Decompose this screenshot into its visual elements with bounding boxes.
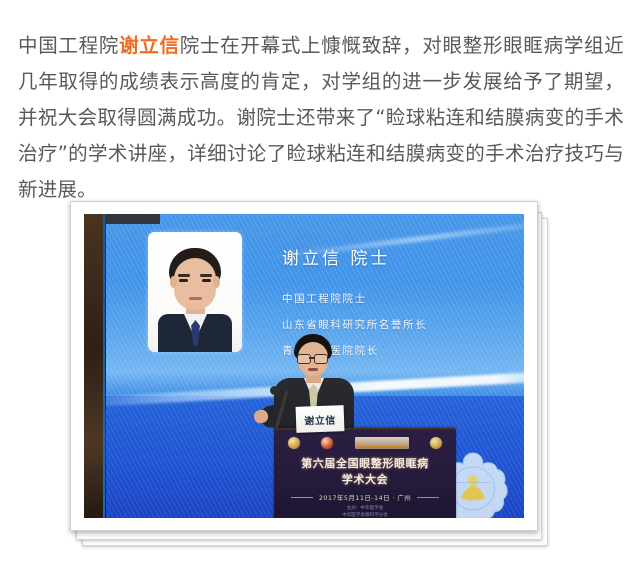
screen-credential-line: 中国工程院院士 (282, 286, 427, 312)
conference-title-line-1: 第六届全国眼整形眼眶病 (274, 456, 456, 472)
speaker-mouth (308, 368, 318, 371)
conference-date: 2017年5月11日-14日 · 广州 (319, 492, 411, 502)
portrait-eye-right (202, 279, 211, 282)
podium-banner: 第六届全国眼整形眼眶病 学术大会 2017年5月11日-14日 · 广州 主办：… (274, 428, 456, 518)
sponsor-logo-icon-4 (430, 437, 442, 449)
sponsor-logo-row (288, 437, 442, 449)
highlighted-name: 谢立信 (119, 34, 180, 57)
speaker-glasses-right-lens (314, 354, 328, 364)
sponsor-logo-icon-3 (355, 437, 409, 449)
portrait-eye-left (179, 279, 188, 282)
date-rule-right (417, 497, 439, 498)
organizer-line: 中华医学会眼科学分会 (274, 513, 456, 518)
speaker-name-plate-text: 谢立信 (304, 411, 336, 427)
date-rule-left (291, 497, 313, 498)
sponsor-logo-icon-1 (288, 437, 300, 449)
sponsor-logo-icon-2 (321, 437, 333, 449)
photo-stack: 谢立信 院士 中国工程院院士 山东省眼科研究所名誉所长 青岛眼科医院院长 (68, 200, 548, 545)
portrait-face (174, 258, 216, 310)
conference-date-row: 2017年5月11日-14日 · 广州 (274, 492, 456, 502)
microphone-head-icon (270, 386, 279, 395)
portrait-mouth (189, 297, 202, 300)
article-paragraph: 中国工程院谢立信院士在开幕式上慷慨致辞，对眼整形眼眶病学组近几年取得的成绩表示高… (18, 28, 624, 208)
speaker-glasses-bridge (309, 357, 314, 359)
portrait-ear-right (213, 276, 220, 288)
portrait-ear-left (170, 276, 177, 288)
organizer-line: 主办：中华医学会 (274, 506, 456, 513)
wall-strip (84, 214, 106, 518)
portrait-brow-left (178, 274, 190, 277)
conference-title: 第六届全国眼整形眼眶病 学术大会 (274, 456, 456, 488)
article-prefix: 中国工程院 (18, 34, 119, 57)
portrait-photo-inset (148, 232, 242, 352)
speaker-glasses-left-lens (297, 354, 311, 364)
organizer-list: 主办：中华医学会 中华医学会眼科学分会 中华医学会眼科学分会眼整形眼眶病学组 (274, 506, 456, 518)
speaker-name-plate: 谢立信 (296, 405, 345, 433)
conference-title-line-2: 学术大会 (274, 472, 456, 488)
ceiling-shadow (104, 214, 160, 224)
photo-frame: 谢立信 院士 中国工程院院士 山东省眼科研究所名誉所长 青岛眼科医院院长 (70, 201, 538, 531)
portrait-brow-right (200, 274, 212, 277)
screen-headline: 谢立信 院士 (282, 244, 390, 269)
article-body: 院士在开幕式上慷慨致辞，对眼整形眼眶病学组近几年取得的成绩表示高度的肯定，对学组… (18, 34, 624, 201)
conference-photograph: 谢立信 院士 中国工程院院士 山东省眼科研究所名誉所长 青岛眼科医院院长 (84, 214, 524, 518)
